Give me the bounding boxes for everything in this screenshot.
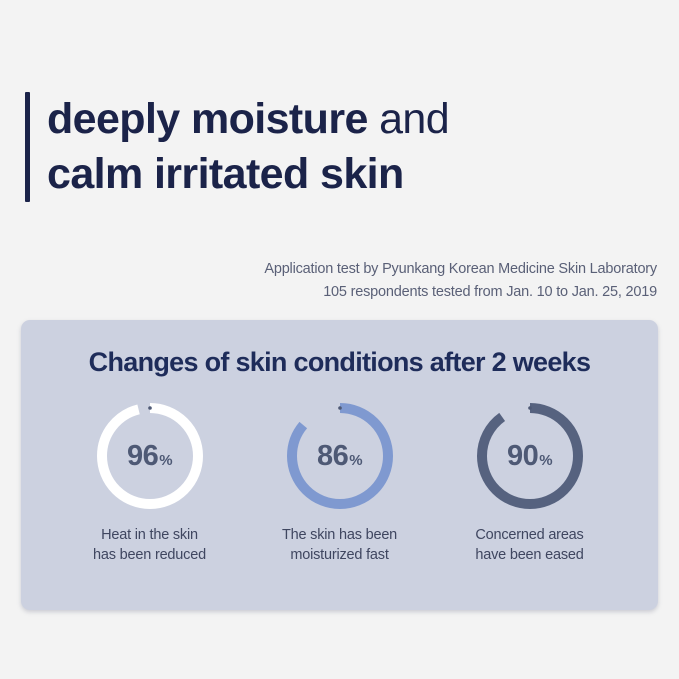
- headline-line-1-light: and: [368, 95, 449, 143]
- headline-accent-bar: [25, 92, 30, 202]
- donut-item: 86% The skin has been moisturized fast: [245, 400, 435, 565]
- donut-caption-line-1: Concerned areas: [475, 525, 583, 545]
- donut-caption-line-1: Heat in the skin: [93, 525, 206, 545]
- donut-caption-line-2: has been reduced: [93, 545, 206, 565]
- donut-percent-symbol: %: [539, 452, 552, 469]
- donut-chart: 90%: [474, 400, 586, 512]
- headline-text-group: deeply moisture and calm irritated skin: [47, 92, 449, 202]
- donut-value-group: 96%: [94, 400, 206, 512]
- headline-line-1: deeply moisture and: [47, 92, 449, 147]
- card-title: Changes of skin conditions after 2 weeks: [21, 347, 658, 378]
- donut-value-number: 90: [507, 440, 538, 473]
- donut-value-group: 86%: [284, 400, 396, 512]
- donut-item: 96% Heat in the skin has been reduced: [55, 400, 245, 565]
- headline-line-2: calm irritated skin: [47, 147, 449, 202]
- donut-value-number: 86: [317, 440, 348, 473]
- donut-caption-line-2: have been eased: [475, 545, 583, 565]
- subtitle-line-1: Application test by Pyunkang Korean Medi…: [264, 258, 657, 281]
- donut-chart-row: 96% Heat in the skin has been reduced 86…: [21, 400, 658, 565]
- donut-chart: 96%: [94, 400, 206, 512]
- headline-block: deeply moisture and calm irritated skin: [25, 92, 449, 202]
- subtitle-line-2: 105 respondents tested from Jan. 10 to J…: [264, 281, 657, 304]
- donut-caption-line-1: The skin has been: [282, 525, 397, 545]
- donut-item: 90% Concerned areas have been eased: [435, 400, 625, 565]
- donut-chart: 86%: [284, 400, 396, 512]
- donut-caption: Heat in the skin has been reduced: [93, 525, 206, 565]
- donut-value-group: 90%: [474, 400, 586, 512]
- donut-caption: The skin has been moisturized fast: [282, 525, 397, 565]
- donut-percent-symbol: %: [349, 452, 362, 469]
- subtitle-block: Application test by Pyunkang Korean Medi…: [264, 258, 657, 304]
- donut-caption: Concerned areas have been eased: [475, 525, 583, 565]
- headline-line-1-strong: deeply moisture: [47, 95, 368, 143]
- stats-card: Changes of skin conditions after 2 weeks…: [21, 320, 658, 610]
- donut-percent-symbol: %: [159, 452, 172, 469]
- donut-value-number: 96: [127, 440, 158, 473]
- donut-caption-line-2: moisturized fast: [282, 545, 397, 565]
